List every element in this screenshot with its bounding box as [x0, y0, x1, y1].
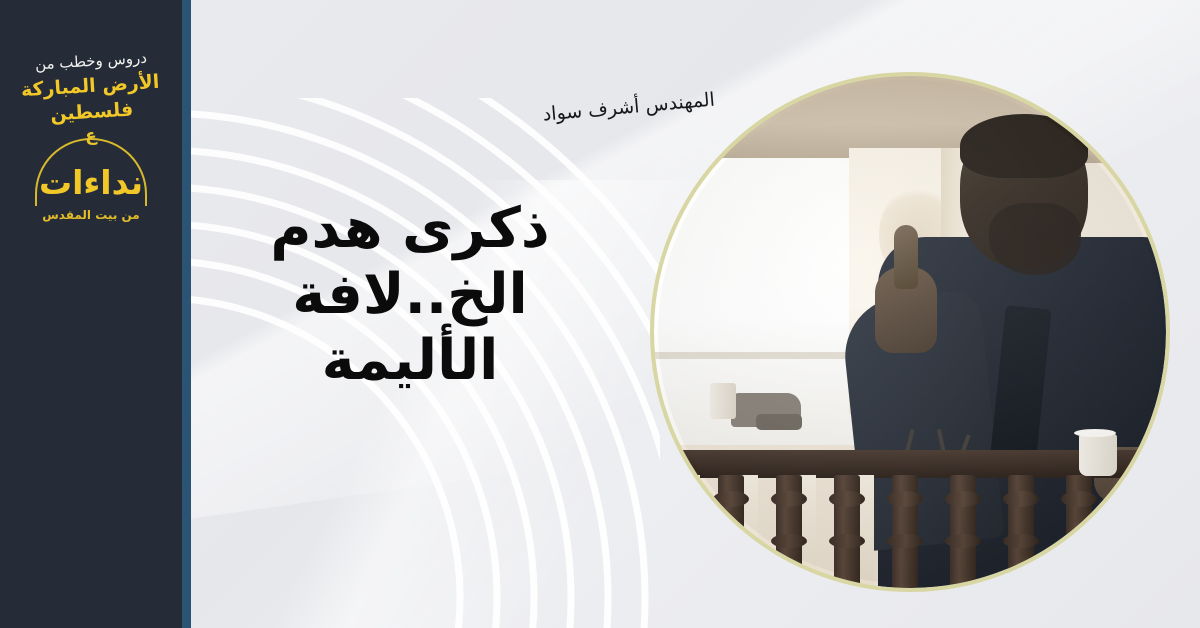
- title-line-2: الخ..لافة الأليمة: [200, 262, 620, 394]
- sidebar-accent-strip: [182, 0, 191, 628]
- title-line-1: ذكرى هدم: [200, 196, 620, 262]
- speaker-photo: [650, 72, 1170, 592]
- logo-tagline: من بيت المقدس: [0, 208, 182, 222]
- poster-canvas: دروس وخطب من الأرض المباركة فلسطين ع ندا…: [0, 0, 1200, 628]
- photo-gold-ring: [650, 72, 1170, 592]
- logo-wordmark: نداءات: [0, 166, 182, 199]
- dome-finial-icon: ع: [85, 128, 97, 145]
- page-title: ذكرى هدم الخ..لافة الأليمة: [200, 196, 620, 394]
- brand-sub-line: الأرض المباركة فلسطين: [0, 68, 183, 130]
- logo-mark: ع نداءات من بيت المقدس: [0, 132, 182, 236]
- brand-block: دروس وخطب من الأرض المباركة فلسطين: [0, 52, 182, 125]
